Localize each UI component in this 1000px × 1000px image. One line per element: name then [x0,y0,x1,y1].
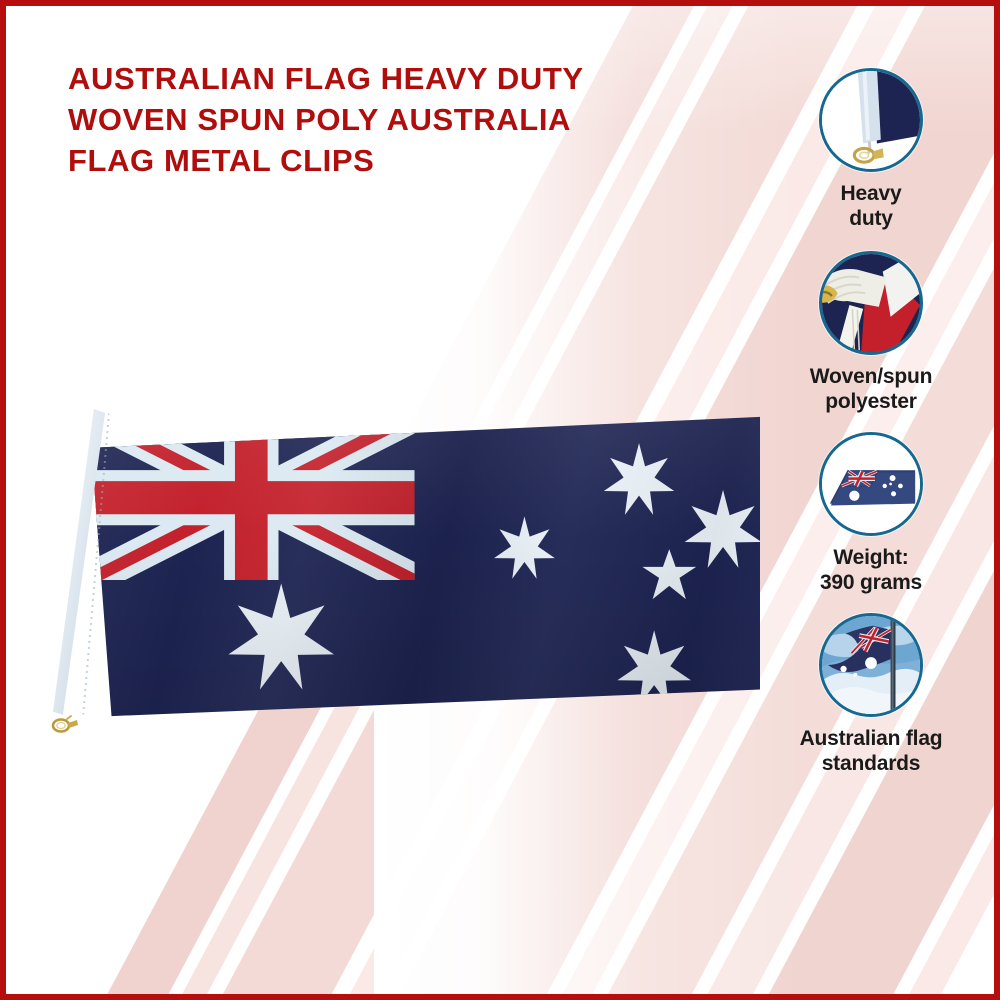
star-delta-crucis [493,516,557,578]
flag-fabric [88,415,760,727]
flag-on-pole-sky-icon [819,613,923,717]
feature-weight: Weight: 390 grams [766,432,976,595]
title-line-2: WOVEN SPUN POLY AUSTRALIA [68,99,688,140]
union-jack-canton [88,415,415,580]
metal-clip-icon [50,713,80,735]
label-line-2: duty [849,207,893,230]
feature-woven-spun-polyester: Woven/spun polyester [766,251,976,414]
feature-label-heavy-duty: Heavy duty [841,181,902,231]
commonwealth-star [226,583,337,689]
feature-heavy-duty: Heavy duty [766,68,976,231]
label-line-2: standards [822,752,921,775]
woven-fabric-closeup-icon [819,251,923,355]
label-line-1: Weight: [833,546,908,569]
feature-badge-list: Heavy duty [766,68,976,776]
title-line-3: FLAG METAL CLIPS [68,140,688,181]
star-beta-crucis [602,443,676,515]
feature-label-australian-flag-standards: Australian flag standards [800,726,943,776]
feature-label-weight: Weight: 390 grams [820,545,922,595]
star-gamma-crucis [616,630,693,705]
star-epsilon-crucis [642,549,696,599]
product-image-canvas: AUSTRALIAN FLAG HEAVY DUTY WOVEN SPUN PO… [0,0,1000,1000]
flag-hoist-sleeve [48,409,110,731]
flag-hoist-metal-clip-icon [819,68,923,172]
product-title: AUSTRALIAN FLAG HEAVY DUTY WOVEN SPUN PO… [68,58,688,181]
label-line-1: Woven/spun [810,365,932,388]
australian-flag-product-photo [36,401,766,751]
label-line-2: polyester [825,390,917,413]
star-alpha-crucis [683,490,760,568]
feature-label-woven-spun-polyester: Woven/spun polyester [810,364,932,414]
title-line-1: AUSTRALIAN FLAG HEAVY DUTY [68,58,688,99]
label-line-2: 390 grams [820,571,922,594]
folded-flag-icon [819,432,923,536]
label-line-1: Australian flag [800,727,943,750]
feature-australian-flag-standards: Australian flag standards [766,613,976,776]
label-line-1: Heavy [841,182,902,205]
